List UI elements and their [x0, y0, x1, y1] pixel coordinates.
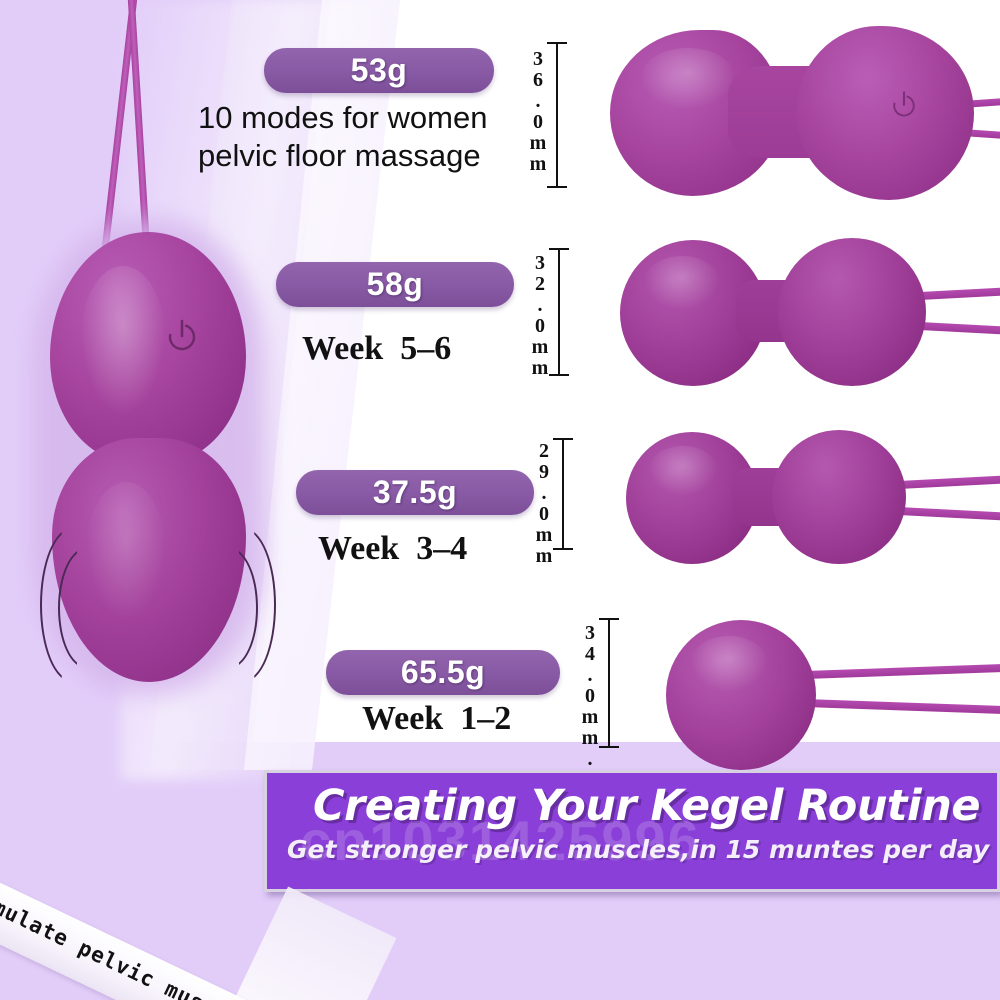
hero-highlight-top — [80, 266, 166, 416]
hero-product-body — [46, 232, 251, 682]
infographic-canvas: 53g 10 modes for women pelvic floor mass… — [0, 0, 1000, 1000]
dimension-label: 36.0mm — [526, 48, 549, 174]
hero-highlight-bottom — [86, 482, 166, 622]
product-thumb-1 — [600, 22, 1000, 204]
weight-badge: 37.5g — [296, 470, 534, 515]
product-thumb-3 — [616, 422, 1000, 572]
dimension-label: 34.0mm. — [578, 622, 601, 769]
week-caption: Week 5–6 — [302, 330, 451, 368]
feature-line-2: pelvic floor massage — [198, 138, 481, 174]
week-caption: Week 1–2 — [362, 700, 511, 738]
dimension-label: 29.0mm — [532, 440, 555, 566]
ball-right — [772, 430, 906, 564]
bulb-right — [796, 26, 974, 200]
power-icon — [164, 317, 200, 353]
feature-line-1: 10 modes for women — [198, 100, 487, 136]
week-caption: Week 3–4 — [318, 530, 467, 568]
banner-subtitle: Get stronger pelvic muscles,in 15 muntes… — [287, 835, 987, 864]
weight-badge: 58g — [276, 262, 514, 307]
weight-badge: 65.5g — [326, 650, 560, 695]
product-thumb-2 — [608, 232, 1000, 392]
product-thumb-4 — [650, 606, 1000, 766]
bottom-banner: Creating Your Kegel Routine Get stronger… — [264, 770, 1000, 892]
power-icon — [888, 88, 920, 120]
dimension-label: 32.0mm — [528, 252, 551, 378]
ball-right — [778, 238, 926, 386]
weight-badge: 53g — [264, 48, 494, 93]
banner-title: Creating Your Kegel Routine — [313, 781, 973, 831]
